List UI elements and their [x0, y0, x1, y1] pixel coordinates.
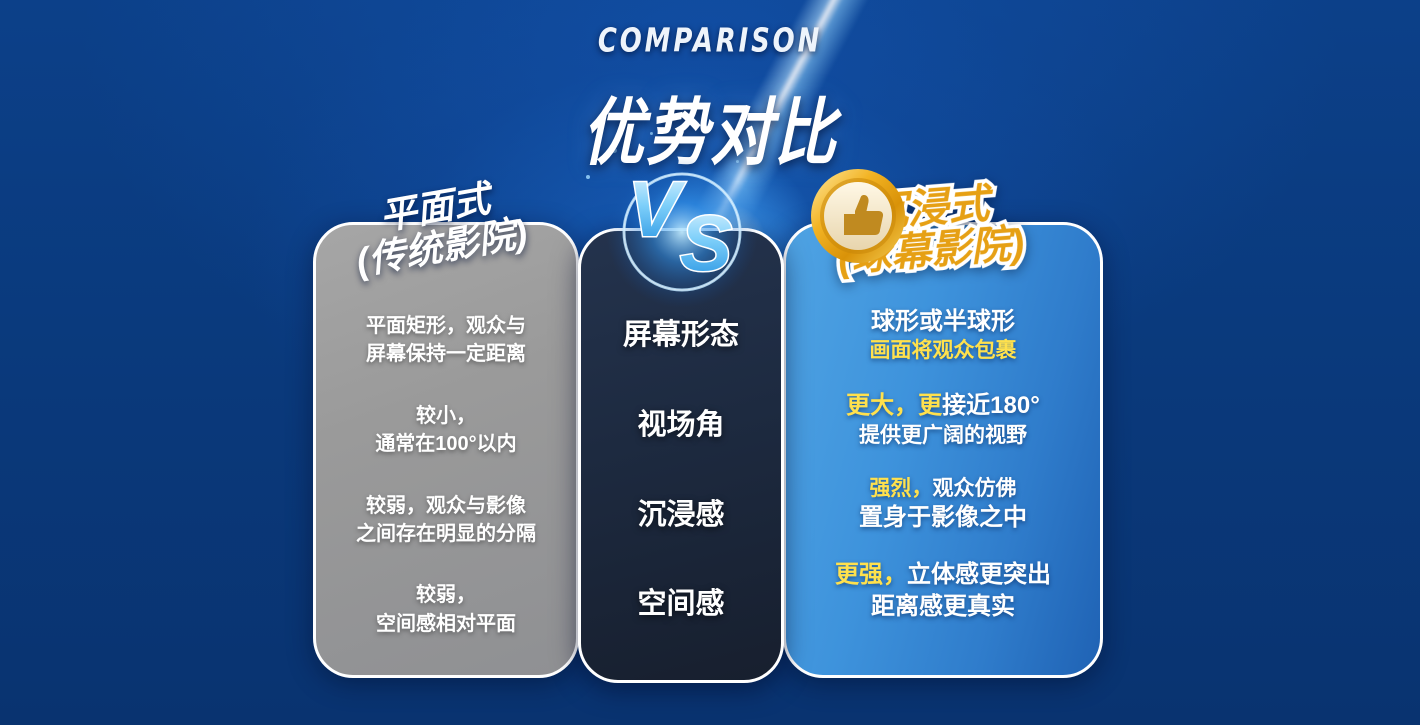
criteria-label: 沉浸感: [578, 498, 784, 533]
criteria-label: 屏幕形态: [578, 318, 784, 353]
row-text-highlight: 更强，: [835, 561, 907, 588]
row-text-highlight: 强烈，: [870, 477, 933, 500]
list-item: 强烈，观众仿佛 置身于影像之中: [783, 475, 1103, 533]
column-criteria-labels: 屏幕形态 视场角 沉浸感 空间感: [578, 318, 784, 677]
row-text-line: 通常在100°以内: [313, 430, 579, 458]
criteria-label: 视场角: [578, 408, 784, 443]
row-text-line: 较小，: [313, 402, 579, 430]
svg-text:S: S: [680, 199, 732, 287]
row-text-highlight: 画面将观众包裹: [870, 339, 1017, 362]
row-text-line: 球形或半球形: [783, 306, 1103, 337]
row-text-line: 提供更广阔的视野: [783, 422, 1103, 449]
column-immersive-content: 球形或半球形 画面将观众包裹 更大，更接近180° 提供更广阔的视野 强烈，观众…: [783, 306, 1103, 648]
list-item: 较弱， 空间感相对平面: [313, 581, 579, 638]
row-text-plain: 立体感更突出: [907, 561, 1051, 588]
list-item: 更大，更接近180° 提供更广阔的视野: [783, 390, 1103, 448]
headline-eyebrow: COMPARISON: [28, 22, 1391, 60]
row-text-plain: 球形或半球形: [871, 308, 1015, 335]
row-text-line: 更大，更接近180°: [783, 390, 1103, 421]
column-traditional-content: 平面矩形，观众与 屏幕保持一定距离 较小， 通常在100°以内 较弱，观众与影像…: [313, 312, 579, 671]
row-text-line: 置身于影像之中: [783, 502, 1103, 533]
row-text-line: 屏幕保持一定距离: [313, 340, 579, 368]
row-text-plain: 距离感更真实: [871, 593, 1015, 620]
row-text-line: 较弱，观众与影像: [313, 492, 579, 520]
criteria-label: 空间感: [578, 587, 784, 622]
page-title-block: COMPARISON 优势对比: [0, 22, 1420, 163]
list-item: 平面矩形，观众与 屏幕保持一定距离: [313, 312, 579, 369]
svg-text:V: V: [628, 165, 686, 253]
row-text-plain: 提供更广阔的视野: [859, 424, 1027, 447]
list-item: 更强，立体感更突出 距离感更真实: [783, 559, 1103, 621]
row-text-plain: 置身于影像之中: [859, 504, 1027, 531]
row-text-highlight: 更大，更: [846, 392, 942, 419]
infographic-canvas: COMPARISON 优势对比 平面式 (传统影院) 沉浸式 (球幕影院): [0, 0, 1420, 725]
gold-medal-thumbs-up-icon: [808, 166, 908, 266]
row-text-plain: 观众仿佛: [933, 477, 1017, 500]
vs-burst-icon: V S: [602, 152, 762, 312]
list-item: 球形或半球形 画面将观众包裹: [783, 306, 1103, 364]
row-text-line: 强烈，观众仿佛: [783, 475, 1103, 502]
row-text-line: 较弱，: [313, 581, 579, 609]
list-item: 较小， 通常在100°以内: [313, 402, 579, 459]
row-text-plain: 接近180°: [942, 392, 1040, 419]
list-item: 较弱，观众与影像 之间存在明显的分隔: [313, 492, 579, 549]
row-text-line: 之间存在明显的分隔: [313, 520, 579, 548]
row-text-line: 更强，立体感更突出: [783, 559, 1103, 590]
row-text-line: 平面矩形，观众与: [313, 312, 579, 340]
row-text-line: 空间感相对平面: [313, 610, 579, 638]
row-text-line: 画面将观众包裹: [783, 337, 1103, 364]
row-text-line: 距离感更真实: [783, 591, 1103, 622]
